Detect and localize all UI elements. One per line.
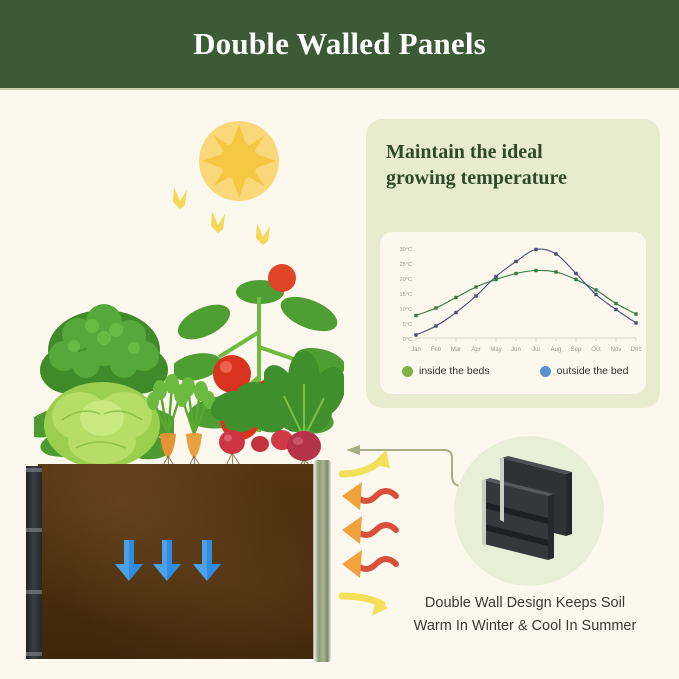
chart-point [634, 312, 637, 315]
x-axis-tick-label: Aug [551, 347, 562, 353]
chart-point [494, 278, 497, 281]
chart-card: Maintain the ideal growing temperature 0… [366, 119, 660, 408]
chart-point [554, 252, 557, 255]
panel-illustration-icon [454, 436, 604, 586]
x-axis-tick-label: Jun [511, 347, 521, 353]
bed-panel-right [314, 460, 331, 662]
double-wall-panel-graphic [454, 436, 604, 586]
chart-point [434, 324, 437, 327]
sun-ray-arrow-2 [208, 209, 230, 235]
chart-plot-container: 0°C5°C10°C15°C20°C25°C30°CJanFebMarAprMa… [380, 232, 646, 394]
legend-item-inside[interactable]: inside the beds [402, 365, 490, 377]
chart-point [634, 321, 637, 324]
y-axis-tick-label: 5°C [403, 322, 412, 328]
chart-line-inside-the-beds [416, 270, 636, 315]
x-axis-tick-label: Oct [591, 347, 601, 353]
chart-point [414, 333, 417, 336]
chart-point [534, 269, 537, 272]
x-axis-tick-label: May [490, 347, 501, 353]
legend-item-outside[interactable]: outside the bed [540, 365, 629, 377]
garden-bed-illustration [0, 92, 360, 679]
sun-ray-arrow-3 [253, 221, 275, 247]
legend-label-inside: inside the beds [419, 365, 490, 377]
header-banner: Double Walled Panels [0, 0, 679, 88]
x-axis-tick-label: Nov [611, 347, 622, 353]
page-title: Double Walled Panels [193, 26, 486, 62]
raised-garden-bed [24, 422, 336, 664]
chart-heading-line2: growing temperature [386, 165, 641, 191]
x-axis-tick-label: Dec [631, 347, 642, 353]
x-axis-tick-label: Feb [431, 347, 442, 353]
chart-point [494, 275, 497, 278]
chart-point [594, 288, 597, 291]
legend-label-outside: outside the bed [557, 365, 629, 377]
carrot-plants [142, 362, 220, 470]
beet-plant [264, 350, 344, 470]
x-axis-tick-label: Jan [411, 347, 421, 353]
y-axis-tick-label: 20°C [400, 277, 413, 283]
legend-dot-outside-icon [540, 366, 551, 377]
panel-caption-line2: Warm In Winter & Cool In Summer [375, 615, 675, 638]
chart-point [514, 260, 517, 263]
chart-point [554, 270, 557, 273]
chart-point [414, 314, 417, 317]
panel-caption-line1: Double Wall Design Keeps Soil [375, 592, 675, 615]
chart-line-outside-the-bed [416, 249, 636, 335]
y-axis-tick-label: 25°C [400, 262, 413, 268]
y-axis-tick-label: 15°C [400, 292, 413, 298]
heat-out-arrow-2 [342, 516, 396, 544]
chart-point [614, 308, 617, 311]
chart-point [574, 278, 577, 281]
chart-heading: Maintain the ideal growing temperature [386, 139, 641, 191]
sun-icon [198, 120, 280, 202]
chart-point [614, 302, 617, 305]
drainage-arrow-3 [192, 540, 222, 582]
drainage-arrow-2 [152, 540, 182, 582]
legend-dot-inside-icon [402, 366, 413, 377]
bed-wall-left [26, 466, 42, 659]
chart-point [474, 294, 477, 297]
chart-legend: inside the beds outside the bed [394, 360, 644, 382]
chart-point [474, 285, 477, 288]
x-axis-tick-label: Apr [471, 347, 480, 353]
y-axis-tick-label: 10°C [400, 307, 413, 313]
chart-point [454, 296, 457, 299]
chart-point [534, 248, 537, 251]
y-axis-tick-label: 0°C [403, 337, 412, 343]
x-axis-tick-label: Sep [571, 347, 582, 353]
chart-point [574, 272, 577, 275]
drainage-arrow-1 [114, 540, 144, 582]
chart-point [454, 311, 457, 314]
heat-out-arrow-3 [342, 550, 396, 578]
panel-caption: Double Wall Design Keeps Soil Warm In Wi… [375, 592, 675, 638]
chart-heading-line1: Maintain the ideal [386, 139, 641, 165]
x-axis-tick-label: Mar [451, 347, 461, 353]
sun-ray-arrow-1 [170, 185, 192, 211]
x-axis-tick-label: Jul [532, 347, 540, 353]
chart-point [514, 272, 517, 275]
chart-point [594, 293, 597, 296]
chart-point [434, 306, 437, 309]
temperature-line-chart: 0°C5°C10°C15°C20°C25°C30°CJanFebMarAprMa… [380, 234, 646, 360]
y-axis-tick-label: 30°C [400, 247, 413, 253]
header-divider [0, 88, 679, 90]
